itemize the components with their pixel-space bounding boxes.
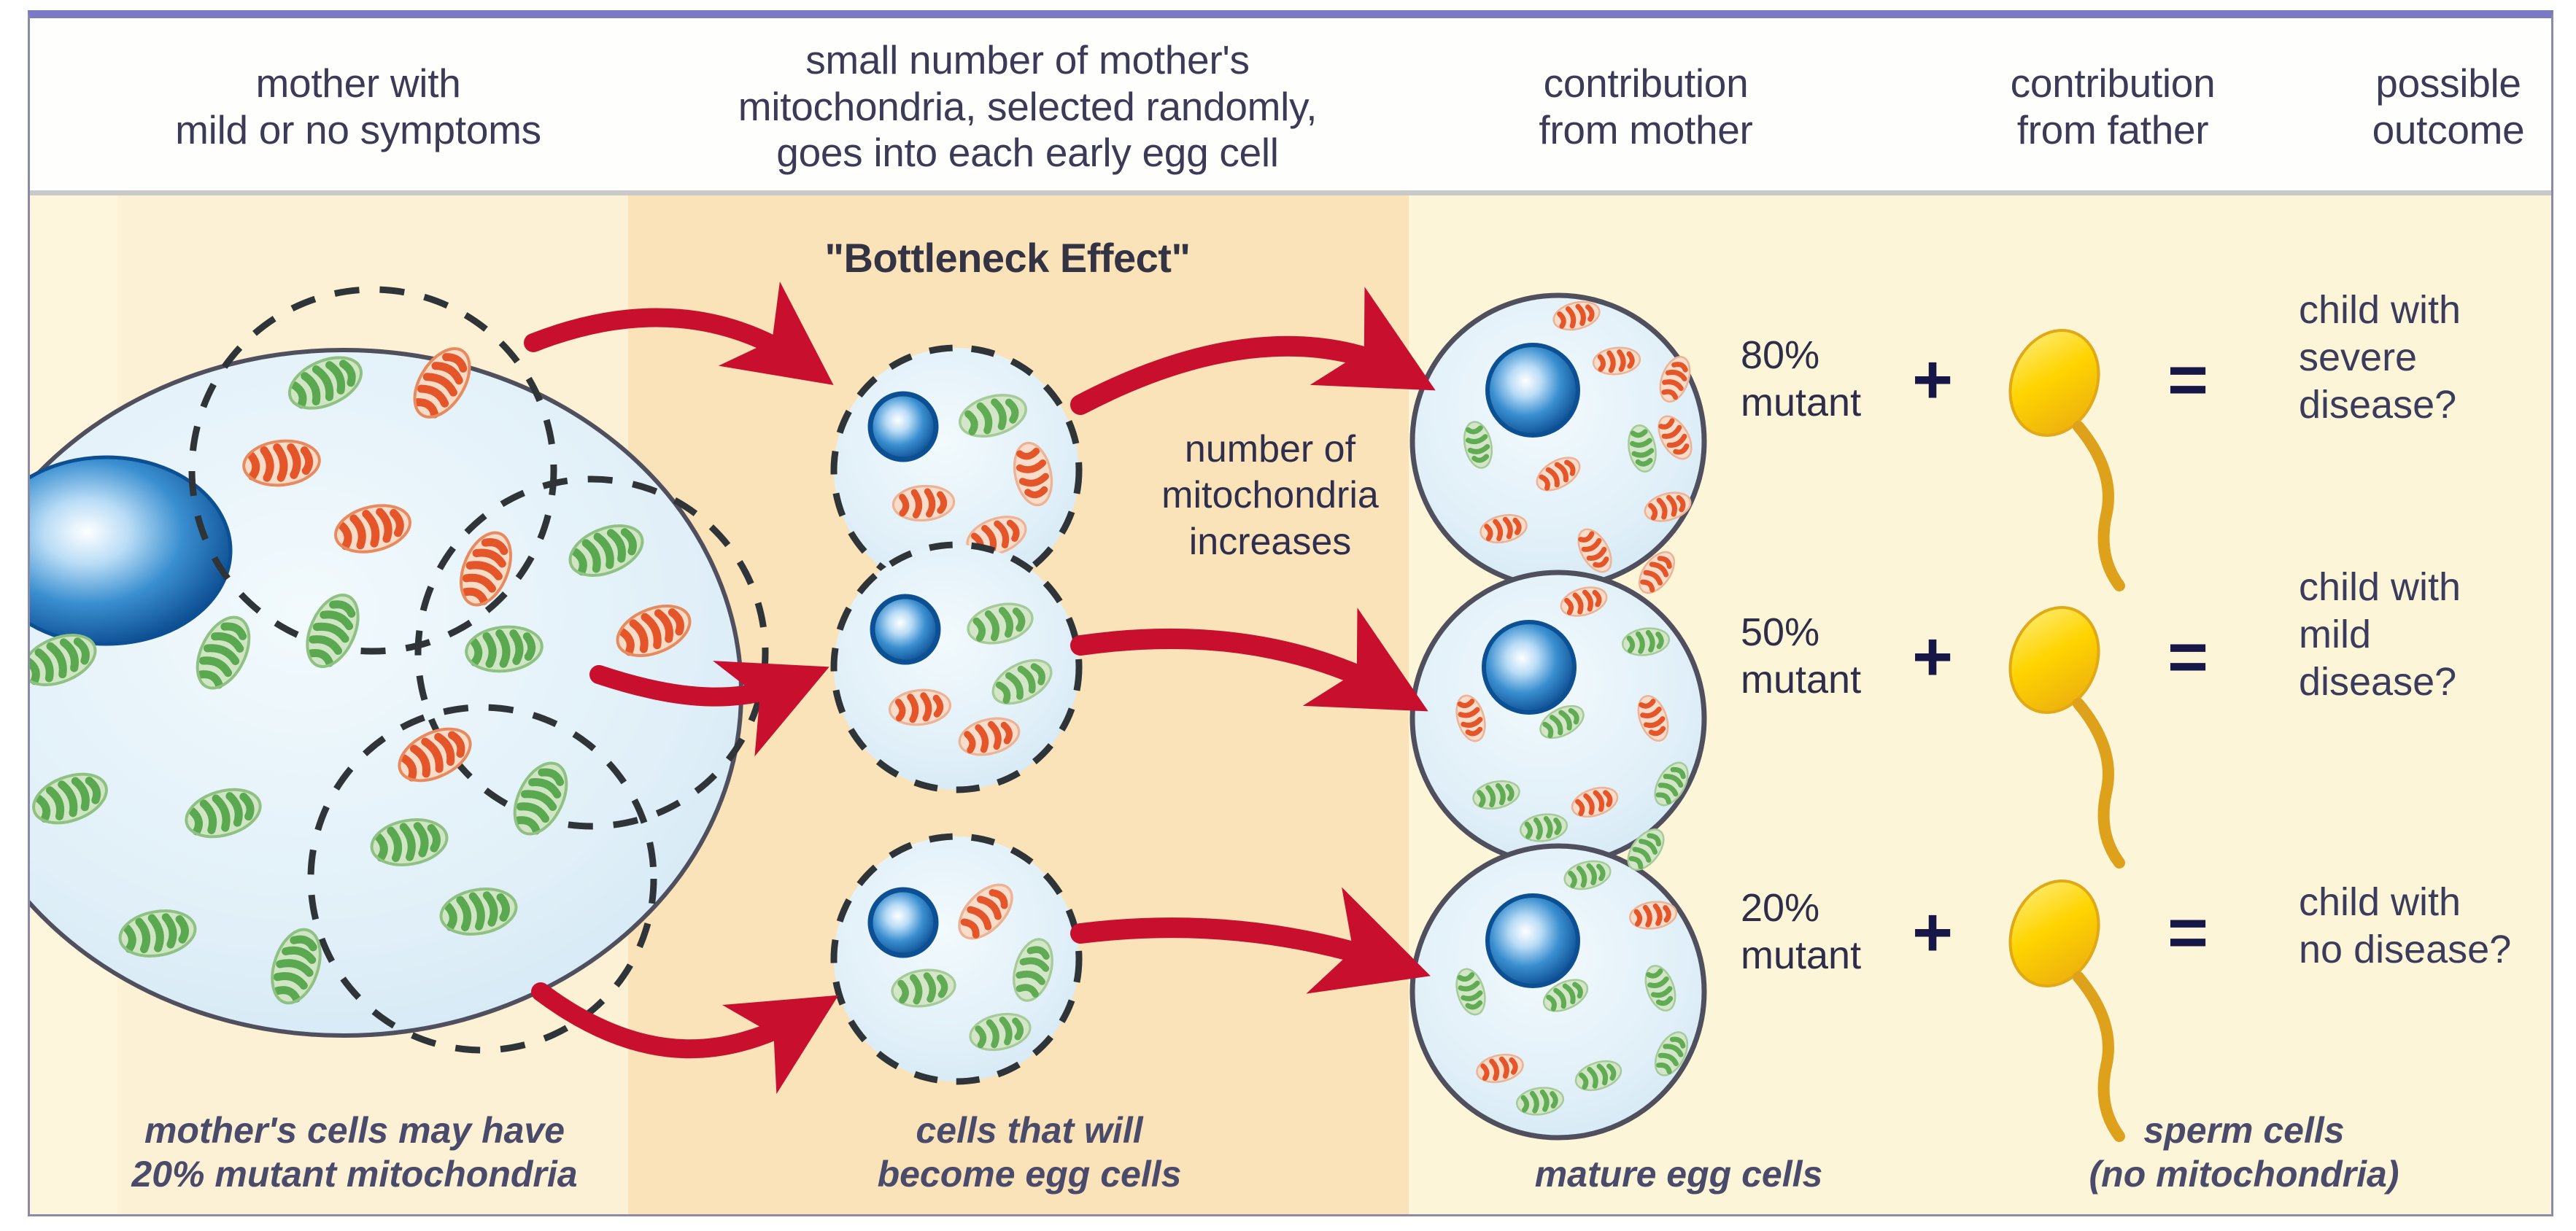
caption-line: sperm cells [1941, 1108, 2547, 1152]
header-line: goes into each early egg cell [776, 130, 1278, 176]
header-column-mother: mother with mild or no symptoms [74, 18, 643, 195]
plus-operator-severe: + [1912, 345, 1953, 415]
header-line: mitochondria, selected randomly, [738, 84, 1317, 131]
header-line: from father [2017, 107, 2209, 154]
header-line: outcome [2372, 107, 2525, 154]
label-line: number of [1117, 427, 1423, 473]
outcome-line: severe [2299, 334, 2553, 381]
background-band-bottleneck [628, 18, 1409, 1214]
outcome-line: child with [2299, 287, 2553, 334]
background-band-mother [117, 18, 628, 1214]
outcome-none: child with no disease? [2299, 879, 2553, 974]
label-line: mitochondria [1117, 473, 1423, 519]
header-column-possible-outcome: possible outcome [2339, 18, 2553, 195]
outcome-severe: child with severe disease? [2299, 287, 2553, 428]
header-line: small number of mother's [805, 37, 1250, 84]
outcome-line: mild [2299, 611, 2553, 659]
header-column-mother-contribution: contribution from mother [1405, 18, 1887, 195]
caption-line: (no mitochondria) [1941, 1152, 2547, 1196]
header-line: possible [2375, 61, 2521, 107]
figure-frame: mother with mild or no symptoms small nu… [28, 10, 2553, 1216]
outcome-mild: child with mild disease? [2299, 564, 2553, 705]
outcome-line: child with [2299, 879, 2553, 926]
caption-mature-egg-cells: mature egg cells [1401, 1152, 1956, 1196]
outcome-line: disease? [2299, 381, 2553, 429]
caption-sperm-cells: sperm cells (no mitochondria) [1941, 1108, 2547, 1196]
caption-line: mother's cells may have [59, 1108, 650, 1152]
caption-line: become egg cells [690, 1152, 1369, 1196]
column-header-bar: mother with mild or no symptoms small nu… [30, 18, 2551, 195]
header-line: mother with [256, 61, 461, 107]
header-line: from mother [1539, 107, 1752, 154]
bottleneck-effect-label: "Bottleneck Effect" [745, 234, 1270, 281]
outcome-line: disease? [2299, 659, 2553, 706]
outcome-line: child with [2299, 564, 2553, 611]
header-column-father-contribution: contribution from father [1887, 18, 2339, 195]
plus-operator-mild: + [1912, 622, 1953, 692]
plus-operator-none: + [1912, 898, 1953, 968]
caption-line: mature egg cells [1401, 1152, 1956, 1196]
mitochondrial-bottleneck-figure: mother with mild or no symptoms small nu… [0, 0, 2576, 1231]
header-column-bottleneck: small number of mother's mitochondria, s… [654, 18, 1401, 195]
equals-operator-none: = [2167, 898, 2208, 968]
label-line: increases [1117, 519, 1423, 565]
caption-line: 20% mutant mitochondria [59, 1152, 650, 1196]
caption-mother-cells: mother's cells may have 20% mutant mitoc… [59, 1108, 650, 1196]
caption-early-egg-cells: cells that will become egg cells [690, 1108, 1369, 1196]
header-line: contribution [2011, 61, 2216, 107]
header-line: contribution [1544, 61, 1749, 107]
caption-line: cells that will [690, 1108, 1369, 1152]
outcome-line: no disease? [2299, 926, 2553, 974]
equals-operator-severe: = [2167, 345, 2208, 415]
equals-operator-mild: = [2167, 622, 2208, 692]
header-line: mild or no symptoms [175, 107, 541, 154]
mitochondria-increase-label: number of mitochondria increases [1117, 427, 1423, 565]
